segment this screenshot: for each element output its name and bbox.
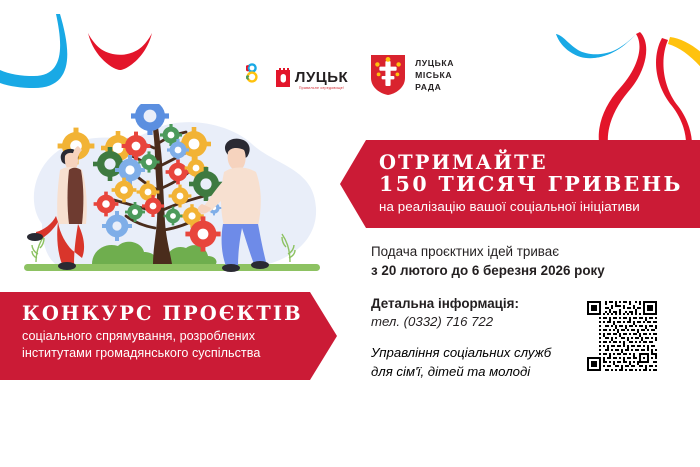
grant-banner-line-2: 150 ТИСЯЧ ГРИВЕНЬ xyxy=(379,173,690,195)
lutsk-tower-icon xyxy=(275,63,292,90)
deadline-label: Подача проєктних ідей триває xyxy=(371,242,671,261)
lutsk-city-logo: ЛУЦЬК Правильне середовище! xyxy=(246,60,348,90)
person-right-shoe-1 xyxy=(222,264,240,272)
person-right-shoe-2 xyxy=(251,261,269,269)
grant-banner-line-1: ОТРИМАЙТЕ xyxy=(379,152,690,173)
poster-canvas: ЛУЦЬК Правильне середовище! xyxy=(0,0,700,467)
competition-banner-subtitle-line-2: інститутами громадянського суспільства xyxy=(22,345,337,362)
qr-code[interactable] xyxy=(585,299,659,373)
lutsk-rada-logo: ЛУЦЬКА МІСЬКА РАДА xyxy=(370,54,454,96)
deadline-group: Подача проєктних ідей триває з 20 лютого… xyxy=(371,242,671,280)
lutsk-logo-icon xyxy=(246,60,272,90)
competition-banner-title: КОНКУРС ПРОЄКТІВ xyxy=(22,303,337,324)
person-left-shoe-1 xyxy=(58,262,76,270)
person-right-body xyxy=(221,168,261,227)
lutsk-tagline: Правильне середовище! xyxy=(299,86,344,90)
logo-strip: ЛУЦЬК Правильне середовище! xyxy=(0,54,700,96)
competition-banner-subtitle-line-1: соціального спрямування, розроблених xyxy=(22,328,337,345)
grant-banner-subtitle: на реалізацію вашої соціальної ініціатив… xyxy=(379,199,690,214)
rada-line-2: МІСЬКА xyxy=(415,69,454,81)
rada-line-3: РАДА xyxy=(415,81,454,93)
competition-title-banner: КОНКУРС ПРОЄКТІВ соціального спрямування… xyxy=(0,292,337,380)
department-block: Управління соціальних служб для сім'ї, д… xyxy=(371,343,576,381)
rada-name-lines: ЛУЦЬКА МІСЬКА РАДА xyxy=(415,57,454,94)
person-left-vest xyxy=(68,168,84,224)
lutsk-wordmark: ЛУЦЬК xyxy=(295,70,348,85)
person-left-shoe-2 xyxy=(27,233,43,241)
people-growing-gear-tree-illustration xyxy=(14,104,326,299)
deadline-value: з 20 лютого до 6 березня 2026 року xyxy=(371,261,671,280)
grant-amount-banner: ОТРИМАЙТЕ 150 ТИСЯЧ ГРИВЕНЬ на реалізаці… xyxy=(340,140,700,228)
competition-banner-subtitle: соціального спрямування, розроблених інс… xyxy=(22,328,337,362)
department-line-2: для сім'ї, дітей та молоді xyxy=(371,362,576,381)
rada-line-1: ЛУЦЬКА xyxy=(415,57,454,69)
department-line-1: Управління соціальних служб xyxy=(371,343,576,362)
lutsk-coat-of-arms-icon xyxy=(370,54,406,96)
lutsk-wordmark-block: ЛУЦЬК Правильне середовище! xyxy=(295,70,348,91)
